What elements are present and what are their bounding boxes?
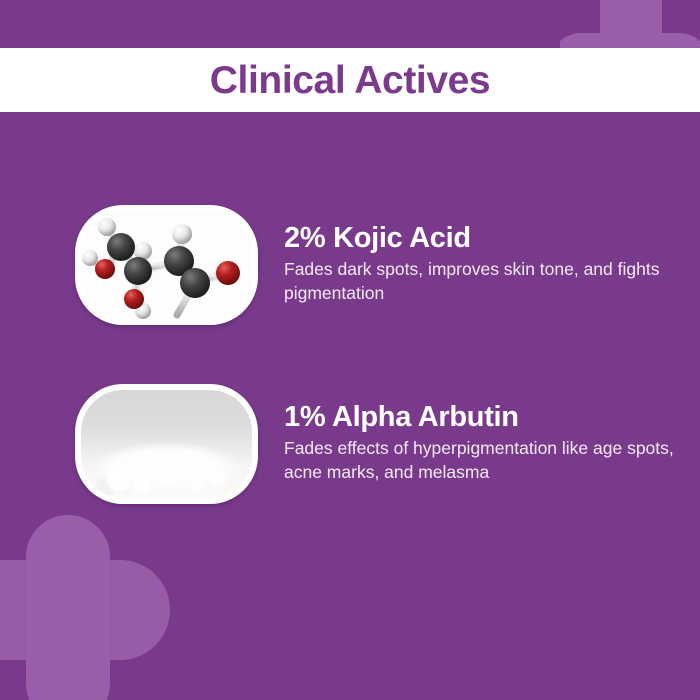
header-band: Clinical Actives [0,48,700,112]
molecule-scene [81,211,252,319]
atom-oxygen [124,289,144,309]
ingredient-description: Fades effects of hyperpigmentation like … [284,437,676,484]
atom-hydrogen [98,218,116,236]
white-powder-photo [81,390,252,498]
atom-hydrogen [82,250,98,266]
alpha-arbutin-text: 1% Alpha Arbutin Fades effects of hyperp… [284,384,700,484]
page-title: Clinical Actives [210,61,490,100]
alpha-arbutin-image [81,390,252,498]
cross-bottom-horizontal-bar [0,560,170,660]
atom-hydrogen [172,224,192,244]
cross-bottom-left-icon [0,500,230,700]
active-ingredient-row: 1% Alpha Arbutin Fades effects of hyperp… [0,384,700,504]
cross-top-right-icon [560,0,700,48]
atom-carbon [107,233,135,261]
cross-bottom-vertical-bar [26,515,110,700]
ingredient-heading: 2% Kojic Acid [284,223,676,254]
kojic-acid-molecule-icon [81,211,252,319]
alpha-arbutin-thumbnail [75,384,258,504]
ingredient-description: Fades dark spots, improves skin tone, an… [284,258,676,305]
kojic-acid-thumbnail [75,205,258,325]
atom-oxygen [216,261,240,285]
atom-carbon [124,257,152,285]
poster-canvas: Clinical Actives [0,0,700,700]
cross-top-vertical-bar [600,0,662,48]
kojic-acid-image [81,211,252,319]
kojic-acid-text: 2% Kojic Acid Fades dark spots, improves… [284,205,700,305]
atom-oxygen [95,259,115,279]
ingredient-heading: 1% Alpha Arbutin [284,402,676,433]
active-ingredient-row: 2% Kojic Acid Fades dark spots, improves… [0,205,700,325]
cross-top-horizontal-bar [560,33,700,48]
atom-carbon [180,268,210,298]
